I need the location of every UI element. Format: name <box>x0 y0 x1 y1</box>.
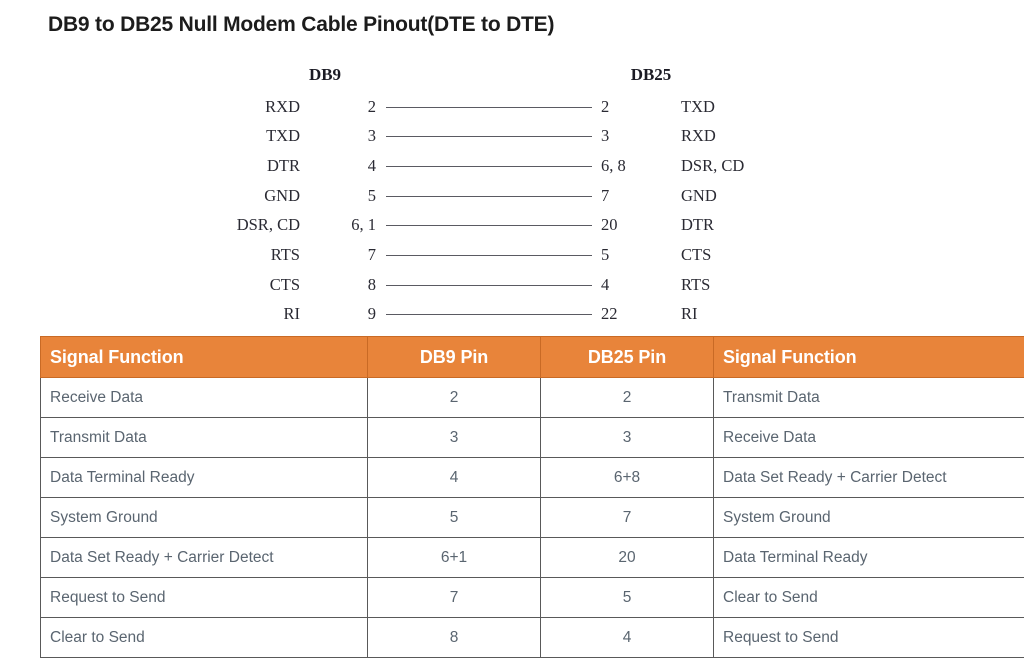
cell-signal-function-db25: Request to Send <box>714 618 1024 658</box>
connection-wire <box>386 166 592 167</box>
db25-signal-label: TXD <box>681 97 981 117</box>
cell-db25-pin: 7 <box>541 498 714 538</box>
table-row: Transmit Data 3 3 Receive Data <box>41 418 1024 458</box>
pinout-row: GND 5 7 GND <box>0 186 1024 208</box>
cell-db9-pin: 5 <box>368 498 541 538</box>
cell-db9-pin: 7 <box>368 578 541 618</box>
column-header-signal-function-db25: Signal Function <box>714 337 1024 378</box>
db25-signal-label: CTS <box>681 245 981 265</box>
cell-signal-function-db9: Receive Data <box>41 378 368 418</box>
cell-db9-pin: 8 <box>368 618 541 658</box>
db9-pin-number: 3 <box>256 126 376 146</box>
connection-wire <box>386 314 592 315</box>
cell-db9-pin: 3 <box>368 418 541 458</box>
cell-signal-function-db9: Transmit Data <box>41 418 368 458</box>
table-header-row: Signal Function DB9 Pin DB25 Pin Signal … <box>41 337 1024 378</box>
table-row: Request to Send 7 5 Clear to Send <box>41 578 1024 618</box>
db25-signal-label: DTR <box>681 215 981 235</box>
db25-signal-label: DSR, CD <box>681 156 981 176</box>
pinout-row: RTS 7 5 CTS <box>0 245 1024 267</box>
table-row: Data Set Ready + Carrier Detect 6+1 20 D… <box>41 538 1024 578</box>
connection-wire <box>386 136 592 137</box>
cell-signal-function-db25: Receive Data <box>714 418 1024 458</box>
cell-signal-function-db9: Data Set Ready + Carrier Detect <box>41 538 368 578</box>
connection-wire <box>386 255 592 256</box>
cell-db25-pin: 6+8 <box>541 458 714 498</box>
connection-wire <box>386 107 592 108</box>
pinout-row: RXD 2 2 TXD <box>0 97 1024 119</box>
cell-signal-function-db25: Clear to Send <box>714 578 1024 618</box>
pinout-row: DTR 4 6, 8 DSR, CD <box>0 156 1024 178</box>
cell-signal-function-db9: System Ground <box>41 498 368 538</box>
pinout-row: RI 9 22 RI <box>0 304 1024 326</box>
pinout-table: Signal Function DB9 Pin DB25 Pin Signal … <box>40 336 1024 658</box>
db25-signal-label: RTS <box>681 275 981 295</box>
cell-db25-pin: 2 <box>541 378 714 418</box>
cell-signal-function-db25: Transmit Data <box>714 378 1024 418</box>
db25-signal-label: GND <box>681 186 981 206</box>
db9-pin-number: 9 <box>256 304 376 324</box>
table-row: System Ground 5 7 System Ground <box>41 498 1024 538</box>
db9-pin-number: 4 <box>256 156 376 176</box>
cell-db9-pin: 6+1 <box>368 538 541 578</box>
cell-signal-function-db25: Data Terminal Ready <box>714 538 1024 578</box>
cell-db25-pin: 4 <box>541 618 714 658</box>
page-title: DB9 to DB25 Null Modem Cable Pinout(DTE … <box>48 13 554 37</box>
column-header-signal-function-db9: Signal Function <box>41 337 368 378</box>
column-header-db25-pin: DB25 Pin <box>541 337 714 378</box>
connection-wire <box>386 285 592 286</box>
db9-pin-number: 8 <box>256 275 376 295</box>
cell-signal-function-db9: Data Terminal Ready <box>41 458 368 498</box>
cell-signal-function-db25: Data Set Ready + Carrier Detect <box>714 458 1024 498</box>
cell-db25-pin: 3 <box>541 418 714 458</box>
table-row: Receive Data 2 2 Transmit Data <box>41 378 1024 418</box>
db25-signal-label: RXD <box>681 126 981 146</box>
pinout-row: DSR, CD 6, 1 20 DTR <box>0 215 1024 237</box>
cell-db25-pin: 5 <box>541 578 714 618</box>
db9-pin-number: 5 <box>256 186 376 206</box>
pinout-row: CTS 8 4 RTS <box>0 275 1024 297</box>
pinout-diagram: DB9 DB25 RXD 2 2 TXD TXD 3 3 RXD DTR 4 6… <box>0 60 1024 326</box>
pinout-row: TXD 3 3 RXD <box>0 126 1024 148</box>
cell-signal-function-db9: Request to Send <box>41 578 368 618</box>
table-row: Data Terminal Ready 4 6+8 Data Set Ready… <box>41 458 1024 498</box>
cell-signal-function-db25: System Ground <box>714 498 1024 538</box>
column-header-db9-pin: DB9 Pin <box>368 337 541 378</box>
cell-db9-pin: 2 <box>368 378 541 418</box>
cell-db9-pin: 4 <box>368 458 541 498</box>
db25-signal-label: RI <box>681 304 981 324</box>
connection-wire <box>386 196 592 197</box>
table-row: Clear to Send 8 4 Request to Send <box>41 618 1024 658</box>
db9-pin-number: 7 <box>256 245 376 265</box>
db25-connector-heading: DB25 <box>631 65 672 85</box>
db9-pin-number: 6, 1 <box>256 215 376 235</box>
db9-pin-number: 2 <box>256 97 376 117</box>
cell-signal-function-db9: Clear to Send <box>41 618 368 658</box>
db9-connector-heading: DB9 <box>309 65 341 85</box>
cell-db25-pin: 20 <box>541 538 714 578</box>
connection-wire <box>386 225 592 226</box>
